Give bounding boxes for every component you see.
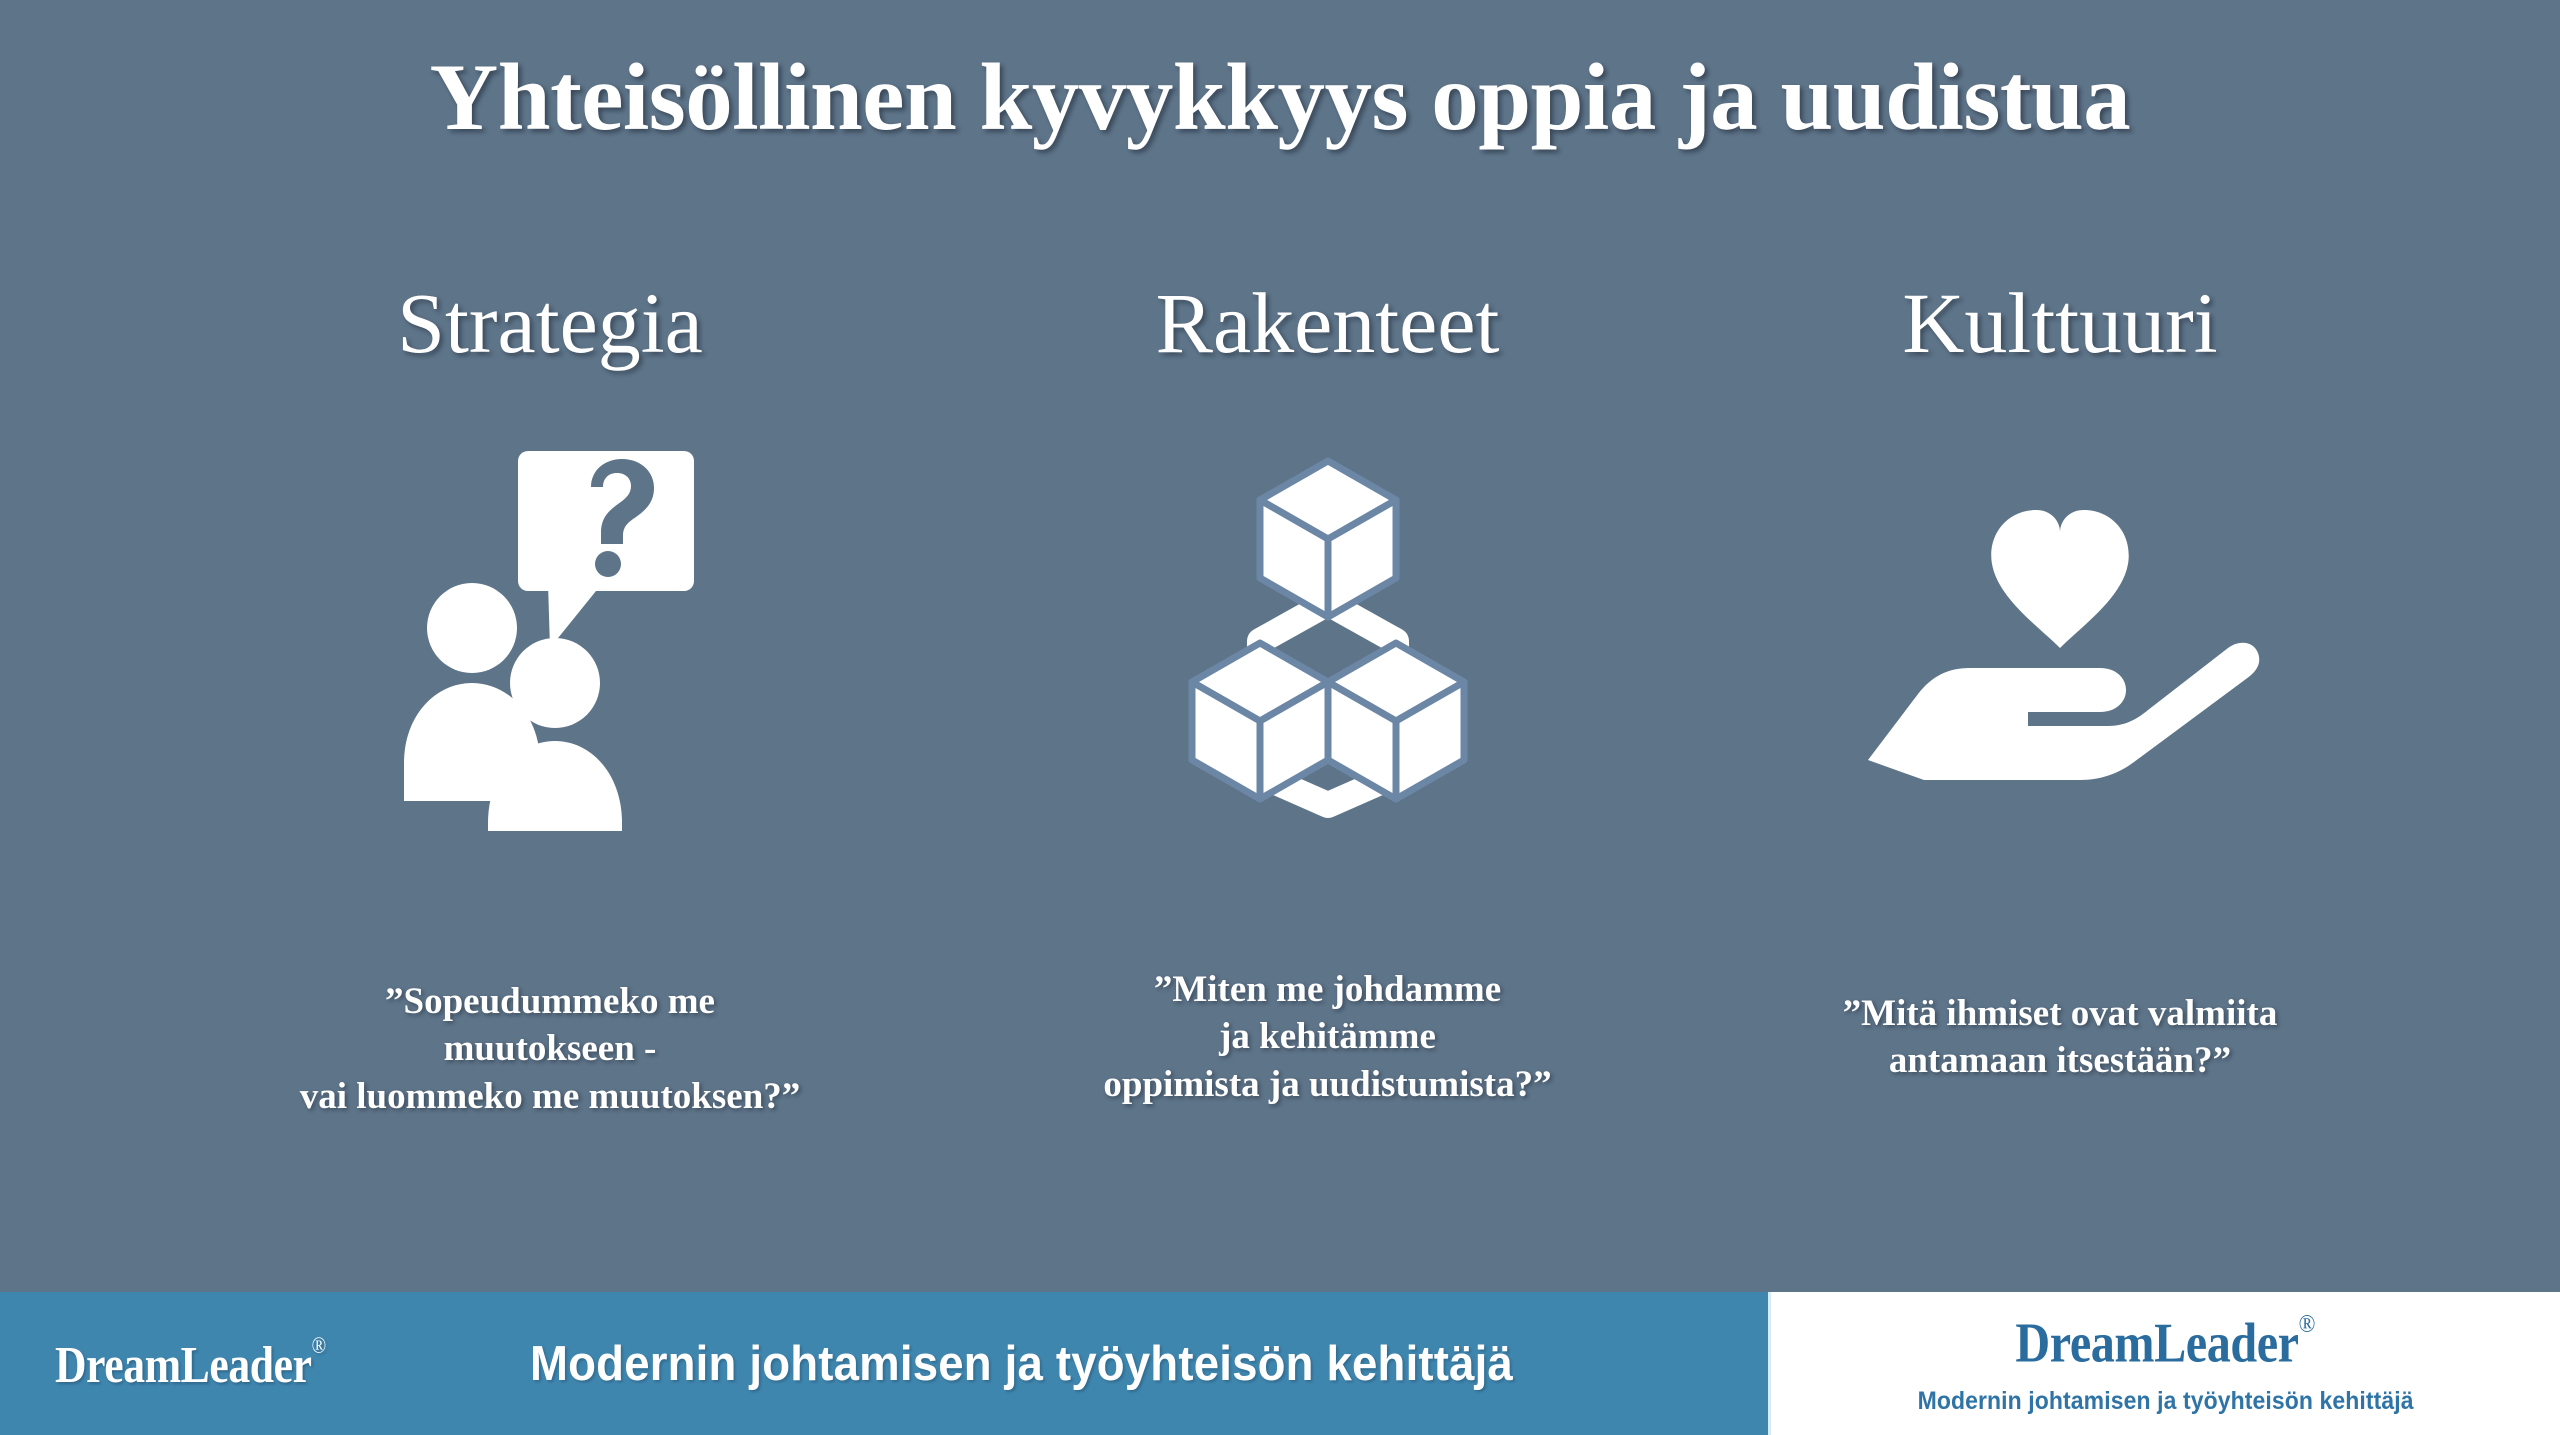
column-heading-kulttuuri: Kulttuuri <box>1902 280 2217 366</box>
connected-cubes-icon <box>1148 428 1508 848</box>
footer-logo-panel: DreamLeader® Modernin johtamisen ja työy… <box>1768 1292 2560 1435</box>
panel-tagline-text: Modernin johtamisen ja työyhteisön kehit… <box>1917 1387 2413 1416</box>
column-caption-kulttuuri: ”Mitä ihmiset ovat valmiita antamaan its… <box>1843 990 2278 1085</box>
footer-logo-text: DreamLeader <box>55 1336 312 1393</box>
column-kulttuuri: Kulttuuri ”Mitä ihmiset ovat valmiita an… <box>1710 280 2410 1085</box>
panel-logo-text: DreamLeader <box>2016 1312 2299 1374</box>
panel-dreamleader-logo: DreamLeader® <box>1991 1311 2339 1372</box>
column-caption-rakenteet: ”Miten me johdamme ja kehitämme oppimist… <box>1103 966 1551 1108</box>
footer-tagline-text: Modernin johtamisen ja työyhteisön kehit… <box>530 1336 1513 1392</box>
registered-mark-icon: ® <box>312 1333 326 1358</box>
slide-footer: DreamLeader® Modernin johtamisen ja työy… <box>0 1292 2560 1435</box>
panel-tagline: Modernin johtamisen ja työyhteisön kehit… <box>1896 1387 2435 1416</box>
footer-tagline: Modernin johtamisen ja työyhteisön kehit… <box>530 1336 1587 1392</box>
people-question-icon <box>400 428 700 848</box>
footer-dreamleader-logo: DreamLeader® <box>55 1333 377 1395</box>
column-strategia: Strategia <box>200 280 900 1120</box>
presentation-slide: Yhteisöllinen kyvykkyys oppia ja uudistu… <box>0 0 2560 1435</box>
column-heading-strategia: Strategia <box>397 280 703 366</box>
three-column-layout: Strategia <box>150 280 2410 1120</box>
heart-in-hand-icon <box>1860 428 2260 848</box>
slide-title: Yhteisöllinen kyvykkyys oppia ja uudistu… <box>0 48 2560 148</box>
column-caption-strategia: ”Sopeudummeko me muutokseen - vai luomme… <box>300 978 801 1120</box>
column-rakenteet: Rakenteet <box>978 280 1678 1108</box>
column-heading-rakenteet: Rakenteet <box>1156 280 1500 366</box>
footer-brand-bar: DreamLeader® Modernin johtamisen ja työy… <box>0 1292 1768 1435</box>
registered-mark-icon: ® <box>2299 1309 2315 1338</box>
